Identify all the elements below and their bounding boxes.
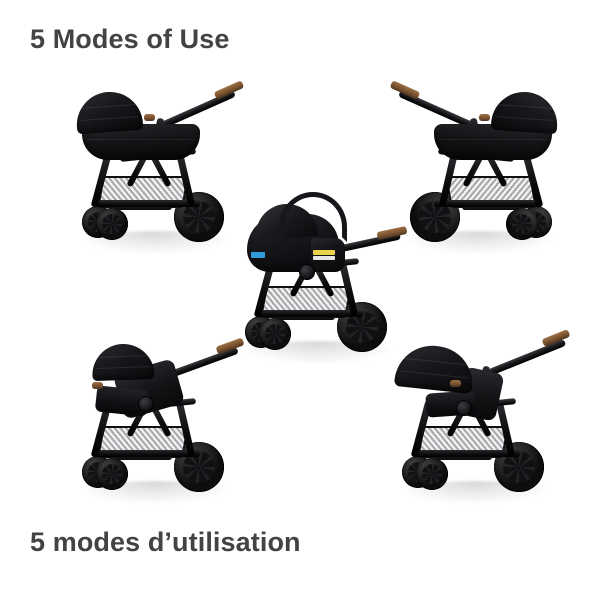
- bumper-bar-leather: [144, 114, 155, 121]
- bumper-bar-leather: [450, 380, 461, 387]
- front-wheel-inner: [96, 208, 128, 240]
- frame-lower-rail: [412, 450, 520, 457]
- car-seat-base-adapter: [311, 238, 345, 272]
- bassinet-canopy: [75, 90, 144, 135]
- car-seat-attachment-hub: [299, 264, 315, 280]
- toddler-seat-canopy: [394, 342, 476, 394]
- page-title-french: 5 modes d’utilisation: [30, 527, 301, 558]
- stroller-mode-toddler-seat-forward-facing: [382, 330, 572, 505]
- seat-recline-hub: [138, 396, 154, 412]
- infant-car-seat-carry-handle: [279, 192, 347, 242]
- frame-lower-rail: [255, 310, 363, 317]
- frame-lower-rail: [92, 200, 200, 207]
- stroller-mode-bassinet-forward: [62, 80, 252, 255]
- car-seat-blue-label: [251, 252, 265, 258]
- car-seat-yellow-label: [313, 250, 335, 255]
- front-wheel-inner: [506, 208, 538, 240]
- car-seat-white-label: [313, 256, 335, 260]
- handlebar: [488, 339, 567, 376]
- product-feature-image: 5 Modes of Use: [0, 0, 600, 600]
- front-wheel-inner: [259, 318, 291, 350]
- bumper-bar-leather: [479, 114, 490, 121]
- seat-recline-hub: [456, 400, 472, 416]
- frame-lower-rail: [434, 200, 542, 207]
- front-wheel-inner: [96, 458, 128, 490]
- frame-lower-rail: [92, 450, 200, 457]
- bassinet-canopy: [491, 90, 560, 135]
- front-wheel-inner: [416, 458, 448, 490]
- page-title-english: 5 Modes of Use: [30, 24, 229, 55]
- stroller-mode-toddler-seat-rear-facing: [62, 330, 252, 505]
- toddler-seat-canopy: [91, 343, 154, 381]
- bumper-bar-leather: [92, 382, 103, 389]
